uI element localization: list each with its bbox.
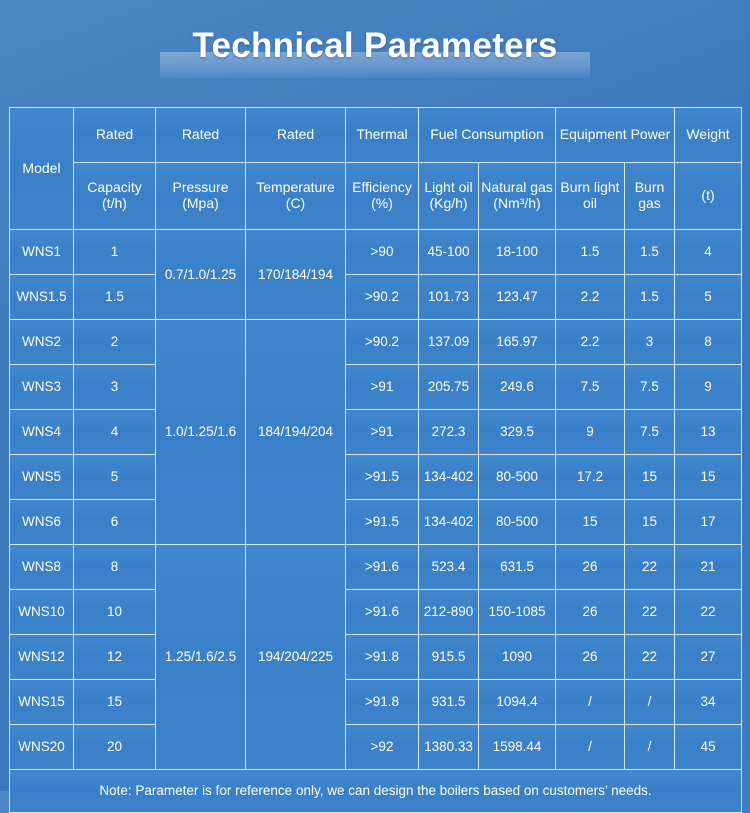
header-rated-temperature-top: Rated	[246, 108, 346, 163]
note-row: Note: Parameter is for reference only, w…	[10, 770, 742, 813]
header-light-oil-unit: Light oil (Kg/h)	[419, 163, 479, 230]
cell-weight: 21	[675, 545, 742, 590]
header-efficiency-unit: Efficiency (%)	[346, 163, 419, 230]
cell-natural-gas: 1090	[479, 635, 556, 680]
header-temperature-unit-label: (C)	[286, 195, 305, 211]
cell-model: WNS1.5	[10, 275, 74, 320]
cell-natural-gas: 18-100	[479, 230, 556, 275]
cell-natural-gas: 1598.44	[479, 725, 556, 770]
technical-parameters-table: Model Rated Rated Rated Thermal Fuel Con…	[9, 107, 742, 813]
cell-light-oil: 45-100	[419, 230, 479, 275]
header-temperature-label: Temperature	[256, 179, 335, 195]
cell-weight: 45	[675, 725, 742, 770]
header-thermal: Thermal	[346, 108, 419, 163]
cell-burn-light-oil: 7.5	[556, 365, 625, 410]
cell-capacity: 20	[74, 725, 156, 770]
header-capacity-label: Capacity	[87, 179, 141, 195]
cell-weight: 15	[675, 455, 742, 500]
cell-burn-light-oil: 26	[556, 545, 625, 590]
cell-light-oil: 212-890	[419, 590, 479, 635]
cell-capacity: 5	[74, 455, 156, 500]
cell-weight: 4	[675, 230, 742, 275]
cell-efficiency: >91.5	[346, 455, 419, 500]
table-row: WNS2020>921380.331598.44//45	[10, 725, 742, 770]
cell-light-oil: 915.5	[419, 635, 479, 680]
cell-weight: 8	[675, 320, 742, 365]
header-temperature-unit: Temperature (C)	[246, 163, 346, 230]
cell-efficiency: >91	[346, 410, 419, 455]
cell-capacity: 12	[74, 635, 156, 680]
header-light-oil-label: Light oil	[424, 179, 472, 195]
cell-natural-gas: 150-1085	[479, 590, 556, 635]
cell-efficiency: >92	[346, 725, 419, 770]
cell-light-oil: 134-402	[419, 455, 479, 500]
cell-capacity: 2	[74, 320, 156, 365]
cell-burn-gas: 1.5	[625, 275, 675, 320]
header-weight: Weight	[675, 108, 742, 163]
cell-model: WNS3	[10, 365, 74, 410]
cell-pressure: 1.0/1.25/1.6	[156, 320, 246, 545]
cell-natural-gas: 631.5	[479, 545, 556, 590]
cell-weight: 13	[675, 410, 742, 455]
cell-natural-gas: 80-500	[479, 455, 556, 500]
cell-efficiency: >90.2	[346, 275, 419, 320]
cell-capacity: 10	[74, 590, 156, 635]
table-row: WNS110.7/1.0/1.25170/184/194>9045-10018-…	[10, 230, 742, 275]
cell-weight: 17	[675, 500, 742, 545]
cell-efficiency: >91.6	[346, 545, 419, 590]
cell-model: WNS5	[10, 455, 74, 500]
cell-burn-gas: 22	[625, 590, 675, 635]
header-light-oil-unit-label: (Kg/h)	[429, 195, 467, 211]
cell-burn-light-oil: 17.2	[556, 455, 625, 500]
table-body: WNS110.7/1.0/1.25170/184/194>9045-10018-…	[10, 230, 742, 770]
cell-model: WNS4	[10, 410, 74, 455]
cell-natural-gas: 80-500	[479, 500, 556, 545]
cell-natural-gas: 165.97	[479, 320, 556, 365]
cell-light-oil: 205.75	[419, 365, 479, 410]
cell-efficiency: >91.8	[346, 635, 419, 680]
technical-parameters-table-wrap: Model Rated Rated Rated Thermal Fuel Con…	[9, 107, 741, 813]
cell-model: WNS12	[10, 635, 74, 680]
header-capacity-unit: Capacity (t/h)	[74, 163, 156, 230]
cell-efficiency: >91.6	[346, 590, 419, 635]
cell-efficiency: >90.2	[346, 320, 419, 365]
cell-light-oil: 931.5	[419, 680, 479, 725]
table-row: WNS55>91.5134-40280-50017.21515	[10, 455, 742, 500]
table-header: Model Rated Rated Rated Thermal Fuel Con…	[10, 108, 742, 230]
table-row: WNS33>91205.75249.67.57.59	[10, 365, 742, 410]
header-fuel-consumption: Fuel Consumption	[419, 108, 556, 163]
page-title-area: Technical Parameters	[0, 0, 750, 95]
cell-natural-gas: 1094.4	[479, 680, 556, 725]
header-pressure-unit-label: (Mpa)	[182, 195, 219, 211]
cell-model: WNS2	[10, 320, 74, 365]
cell-burn-gas: 3	[625, 320, 675, 365]
cell-natural-gas: 123.47	[479, 275, 556, 320]
cell-pressure: 0.7/1.0/1.25	[156, 230, 246, 320]
header-burn-light-oil: Burn light oil	[556, 163, 625, 230]
page-title: Technical Parameters	[0, 26, 750, 66]
cell-pressure: 1.25/1.6/2.5	[156, 545, 246, 770]
cell-burn-light-oil: 9	[556, 410, 625, 455]
cell-burn-light-oil: 2.2	[556, 320, 625, 365]
cell-capacity: 8	[74, 545, 156, 590]
header-natural-gas-unit: Natural gas (Nm³/h)	[479, 163, 556, 230]
header-natural-gas-label: Natural gas	[481, 179, 553, 195]
cell-efficiency: >90	[346, 230, 419, 275]
cell-light-oil: 101.73	[419, 275, 479, 320]
cell-capacity: 15	[74, 680, 156, 725]
table-footer: Note: Parameter is for reference only, w…	[10, 770, 742, 813]
cell-temperature: 184/194/204	[246, 320, 346, 545]
cell-capacity: 6	[74, 500, 156, 545]
cell-natural-gas: 329.5	[479, 410, 556, 455]
cell-efficiency: >91	[346, 365, 419, 410]
header-equipment-power: Equipment Power	[556, 108, 675, 163]
table-row: WNS66>91.5134-40280-500151517	[10, 500, 742, 545]
cell-light-oil: 134-402	[419, 500, 479, 545]
cell-temperature: 170/184/194	[246, 230, 346, 320]
table-row: WNS1212>91.8915.51090262227	[10, 635, 742, 680]
cell-model: WNS8	[10, 545, 74, 590]
note-text: Note: Parameter is for reference only, w…	[10, 770, 742, 813]
cell-burn-gas: 15	[625, 500, 675, 545]
table-header-sub-row: Capacity (t/h) Pressure (Mpa) Temperatur…	[10, 163, 742, 230]
table-row: WNS881.25/1.6/2.5194/204/225>91.6523.463…	[10, 545, 742, 590]
cell-burn-light-oil: 15	[556, 500, 625, 545]
cell-model: WNS1	[10, 230, 74, 275]
header-efficiency-label: Efficiency	[352, 179, 412, 195]
table-row: WNS221.0/1.25/1.6184/194/204>90.2137.091…	[10, 320, 742, 365]
header-pressure-label: Pressure	[172, 179, 228, 195]
cell-capacity: 3	[74, 365, 156, 410]
cell-natural-gas: 249.6	[479, 365, 556, 410]
cell-light-oil: 1380.33	[419, 725, 479, 770]
cell-weight: 5	[675, 275, 742, 320]
cell-burn-light-oil: 26	[556, 590, 625, 635]
cell-efficiency: >91.5	[346, 500, 419, 545]
table-header-top-row: Model Rated Rated Rated Thermal Fuel Con…	[10, 108, 742, 163]
cell-capacity: 1.5	[74, 275, 156, 320]
cell-light-oil: 137.09	[419, 320, 479, 365]
cell-burn-light-oil: 26	[556, 635, 625, 680]
cell-burn-light-oil: 1.5	[556, 230, 625, 275]
cell-light-oil: 523.4	[419, 545, 479, 590]
cell-burn-light-oil: /	[556, 725, 625, 770]
header-capacity-unit-label: (t/h)	[102, 195, 127, 211]
cell-capacity: 1	[74, 230, 156, 275]
header-model: Model	[10, 108, 74, 230]
cell-model: WNS10	[10, 590, 74, 635]
header-burn-gas: Burn gas	[625, 163, 675, 230]
header-weight-unit: (t)	[675, 163, 742, 230]
cell-light-oil: 272.3	[419, 410, 479, 455]
cell-burn-gas: /	[625, 725, 675, 770]
cell-burn-light-oil: 2.2	[556, 275, 625, 320]
cell-efficiency: >91.8	[346, 680, 419, 725]
header-efficiency-unit-label: (%)	[371, 195, 393, 211]
cell-model: WNS6	[10, 500, 74, 545]
cell-temperature: 194/204/225	[246, 545, 346, 770]
cell-weight: 22	[675, 590, 742, 635]
cell-weight: 34	[675, 680, 742, 725]
cell-model: WNS20	[10, 725, 74, 770]
cell-burn-gas: /	[625, 680, 675, 725]
header-natural-gas-unit-label: (Nm³/h)	[493, 195, 540, 211]
table-row: WNS1010>91.6212-890150-1085262222	[10, 590, 742, 635]
cell-weight: 9	[675, 365, 742, 410]
header-rated-capacity-top: Rated	[74, 108, 156, 163]
cell-model: WNS15	[10, 680, 74, 725]
header-pressure-unit: Pressure (Mpa)	[156, 163, 246, 230]
cell-burn-gas: 1.5	[625, 230, 675, 275]
cell-burn-gas: 22	[625, 545, 675, 590]
cell-burn-gas: 22	[625, 635, 675, 680]
table-row: WNS44>91272.3329.597.513	[10, 410, 742, 455]
cell-burn-gas: 15	[625, 455, 675, 500]
header-rated-pressure-top: Rated	[156, 108, 246, 163]
table-row: WNS1515>91.8931.51094.4//34	[10, 680, 742, 725]
table-row: WNS1.51.5>90.2101.73123.472.21.55	[10, 275, 742, 320]
cell-burn-gas: 7.5	[625, 365, 675, 410]
cell-capacity: 4	[74, 410, 156, 455]
cell-burn-gas: 7.5	[625, 410, 675, 455]
cell-burn-light-oil: /	[556, 680, 625, 725]
cell-weight: 27	[675, 635, 742, 680]
